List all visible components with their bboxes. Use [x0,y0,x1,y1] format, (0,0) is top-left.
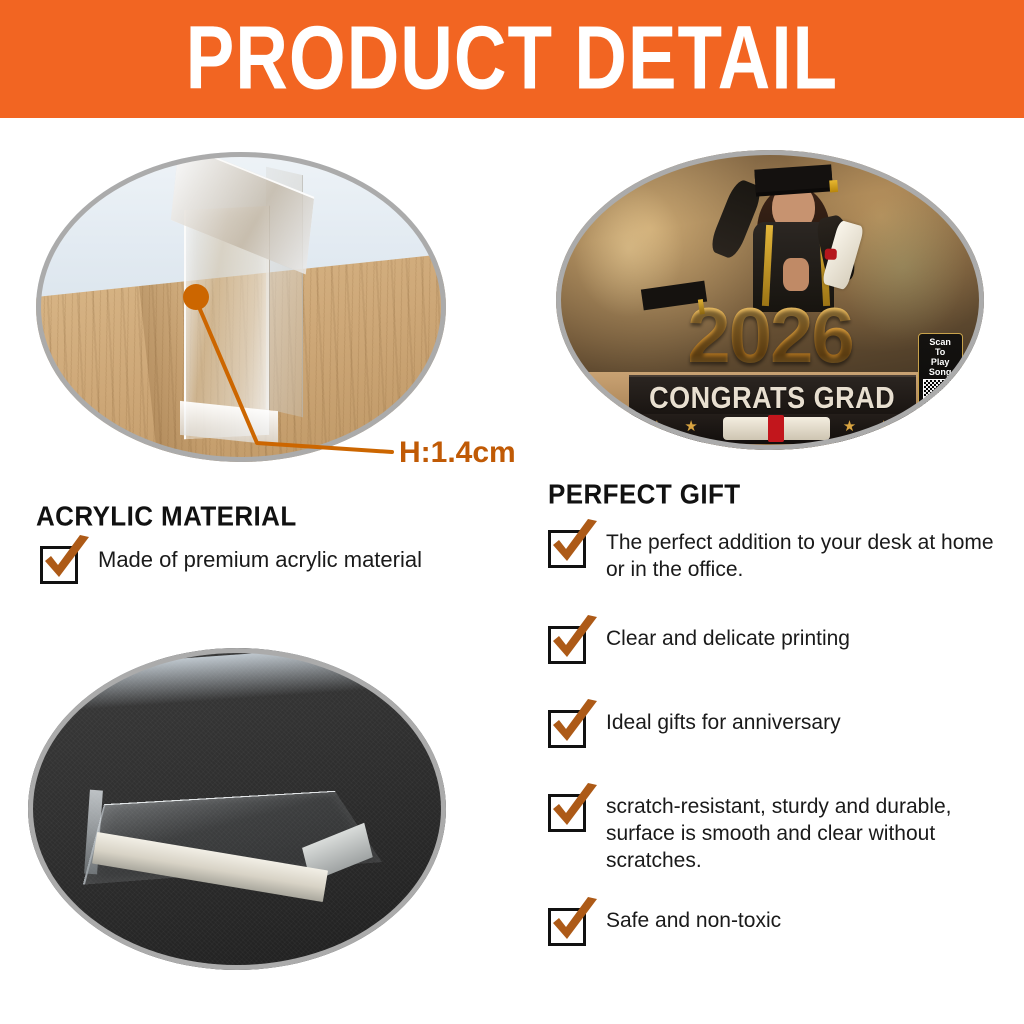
heading-perfect-gift: PERFECT GIFT [548,478,741,511]
checkmark-icon [547,615,603,667]
checkmark-icon [39,535,95,587]
photo-acrylic-slab [28,648,446,970]
photo-acrylic-thickness [36,152,446,462]
checkbox-checked-icon [548,794,586,832]
star-icon: ★ [843,420,856,433]
feature-label: Made of premium acrylic material [98,546,422,574]
checkbox-checked-icon [548,626,586,664]
graduation-cap-icon [754,164,832,192]
feature-item-desk-addition: The perfect addition to your desk at hom… [548,530,1000,584]
feature-label: scratch-resistant, sturdy and durable, s… [606,794,998,875]
feature-item-anniversary-gift: Ideal gifts for anniversary [548,710,1000,748]
background-highlight [77,648,414,718]
page-banner: PRODUCT DETAIL [0,0,1024,118]
scan-tag-line: Scan [929,337,951,347]
feature-label: The perfect addition to your desk at hom… [606,530,998,584]
feature-item-acrylic-material: Made of premium acrylic material [40,546,422,584]
diploma-scroll-base [723,417,830,440]
star-icon: ★ [684,420,697,433]
checkbox-checked-icon [548,908,586,946]
feature-label: Clear and delicate printing [606,626,850,653]
feature-item-scratch-resistant: scratch-resistant, sturdy and durable, s… [548,794,1000,875]
feature-item-clear-printing: Clear and delicate printing [548,626,1000,664]
scan-tag-line: To [935,347,945,357]
checkbox-checked-icon [548,530,586,568]
checkbox-checked-icon [40,546,78,584]
heading-acrylic-material: ACRYLIC MATERIAL [36,500,297,533]
checkbox-checked-icon [548,710,586,748]
dimension-point-dot [183,284,209,310]
checkmark-icon [547,699,603,751]
feature-label: Safe and non-toxic [606,908,781,935]
product-detail-page: PRODUCT DETAIL H:1.4cm [0,0,1024,1024]
graduate-midriff [783,258,809,291]
plaque-text: CONGRATS GRAD [649,381,895,416]
wood-table-scene [36,152,446,462]
checkmark-icon [547,519,603,571]
photo-graduation-ornament: 2026 CONGRATS GRAD ★ ★ ★ ★ Scan To Play … [556,150,984,450]
dimension-label: H:1.4cm [399,436,516,470]
star-icon: ★ [877,420,890,433]
feature-label: Ideal gifts for anniversary [606,710,841,737]
scan-tag-line: Song [929,367,952,377]
checkmark-icon [547,783,603,835]
checkmark-icon [547,897,603,949]
scan-tag-line: Play [931,357,950,367]
star-icon: ★ [650,420,663,433]
graduation-scene: 2026 CONGRATS GRAD ★ ★ ★ ★ Scan To Play … [556,150,984,450]
feature-item-safe-non-toxic: Safe and non-toxic [548,908,1000,946]
scan-to-play-song-tag: Scan To Play Song [918,333,963,426]
slate-surface-scene [28,648,446,970]
qr-code-icon [923,379,956,409]
page-title: PRODUCT DETAIL [186,14,838,104]
